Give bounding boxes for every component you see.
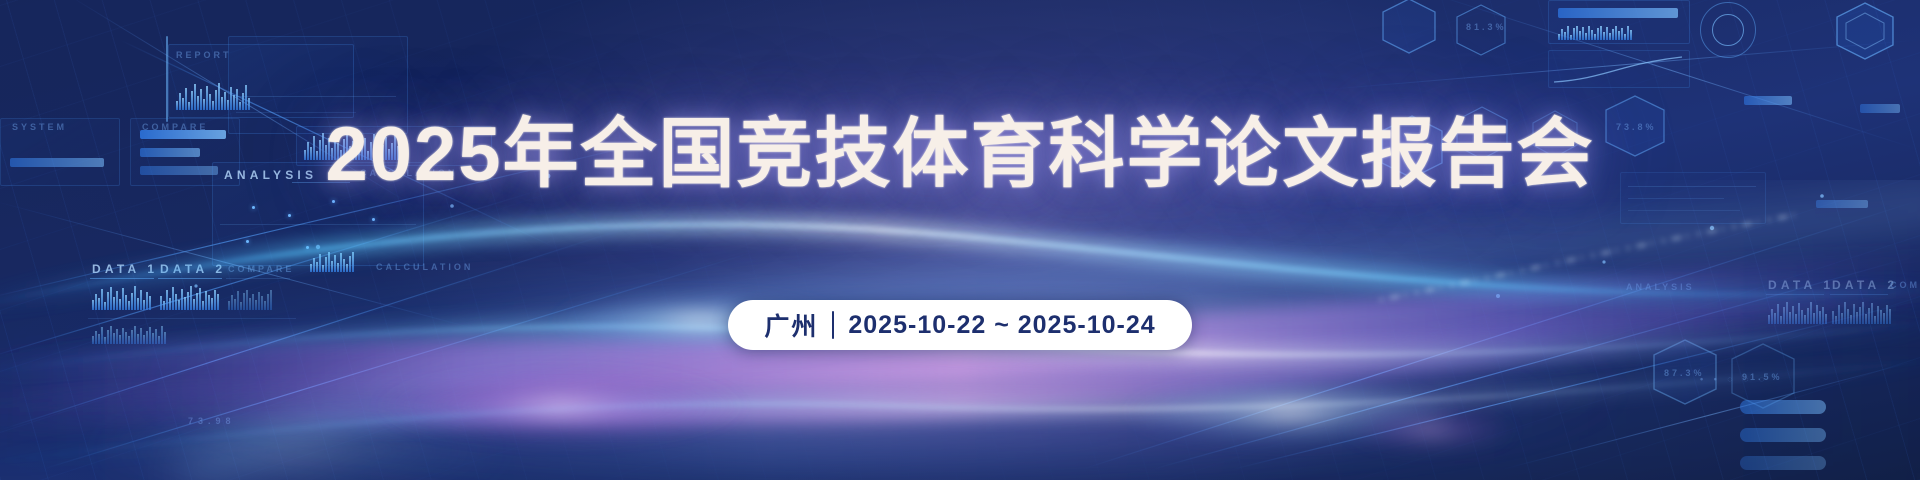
event-banner: REPORT SYSTEM COMPARE CAL (0, 0, 1920, 480)
event-dates: 2025-10-22 ~ 2025-10-24 (848, 311, 1155, 340)
event-city: 广州 (764, 307, 818, 343)
pill-separator (832, 311, 834, 339)
event-info-pill: 广州 2025-10-22 ~ 2025-10-24 (728, 300, 1191, 350)
page-title: 2025年全国竞技体育科学论文报告会 (0, 110, 1920, 200)
banner-content: 2025年全国竞技体育科学论文报告会 广州 2025-10-22 ~ 2025-… (0, 0, 1920, 480)
info-pill-row: 广州 2025-10-22 ~ 2025-10-24 (0, 300, 1920, 350)
